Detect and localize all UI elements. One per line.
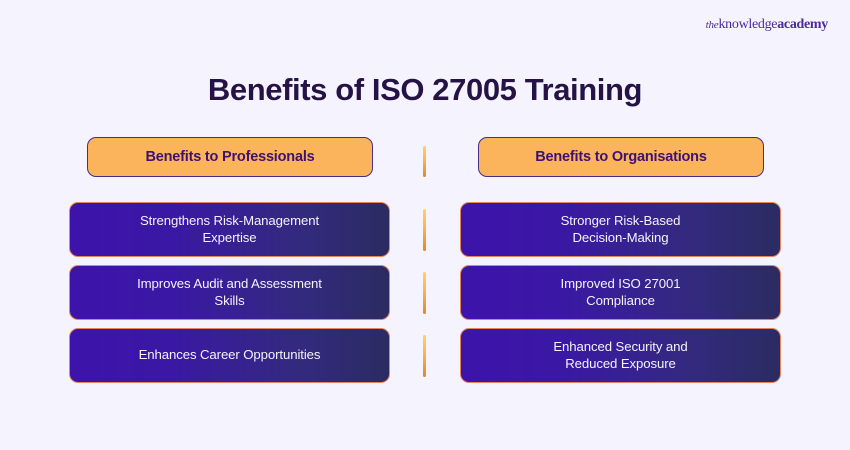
- card-list-organisations: Stronger Risk-Based Decision-Making Impr…: [460, 202, 781, 383]
- page-title: Benefits of ISO 27005 Training: [0, 72, 850, 108]
- logo-the-text: the: [706, 19, 719, 31]
- logo-knowledge-text: knowledge: [718, 17, 777, 32]
- card-list-professionals: Strengthens Risk-Management Expertise Im…: [69, 202, 390, 383]
- column-header-professionals: Benefits to Professionals: [87, 137, 373, 177]
- benefit-card: Improved ISO 27001 Compliance: [460, 265, 781, 320]
- benefit-card-text: Stronger Risk-Based Decision-Making: [545, 213, 697, 246]
- benefit-card: Strengthens Risk-Management Expertise: [69, 202, 390, 257]
- benefit-card-text: Enhanced Security and Reduced Exposure: [537, 339, 703, 372]
- benefit-card-text: Enhances Career Opportunities: [123, 347, 337, 364]
- column-divider: [423, 209, 426, 251]
- brand-logo: theknowledgeacademy: [706, 16, 828, 33]
- column-divider: [423, 146, 426, 177]
- benefit-card: Enhances Career Opportunities: [69, 328, 390, 383]
- benefit-card: Stronger Risk-Based Decision-Making: [460, 202, 781, 257]
- benefit-card-text: Improved ISO 27001 Compliance: [545, 276, 697, 309]
- column-organisations: Benefits to Organisations Stronger Risk-…: [460, 137, 781, 383]
- benefit-card: Improves Audit and Assessment Skills: [69, 265, 390, 320]
- column-professionals: Benefits to Professionals Strengthens Ri…: [69, 137, 390, 383]
- column-header-organisations: Benefits to Organisations: [478, 137, 764, 177]
- column-divider: [423, 335, 426, 377]
- logo-academy-text: academy: [777, 17, 828, 32]
- benefit-card: Enhanced Security and Reduced Exposure: [460, 328, 781, 383]
- column-divider: [423, 272, 426, 314]
- benefit-card-text: Improves Audit and Assessment Skills: [121, 276, 338, 309]
- benefit-card-text: Strengthens Risk-Management Expertise: [124, 213, 335, 246]
